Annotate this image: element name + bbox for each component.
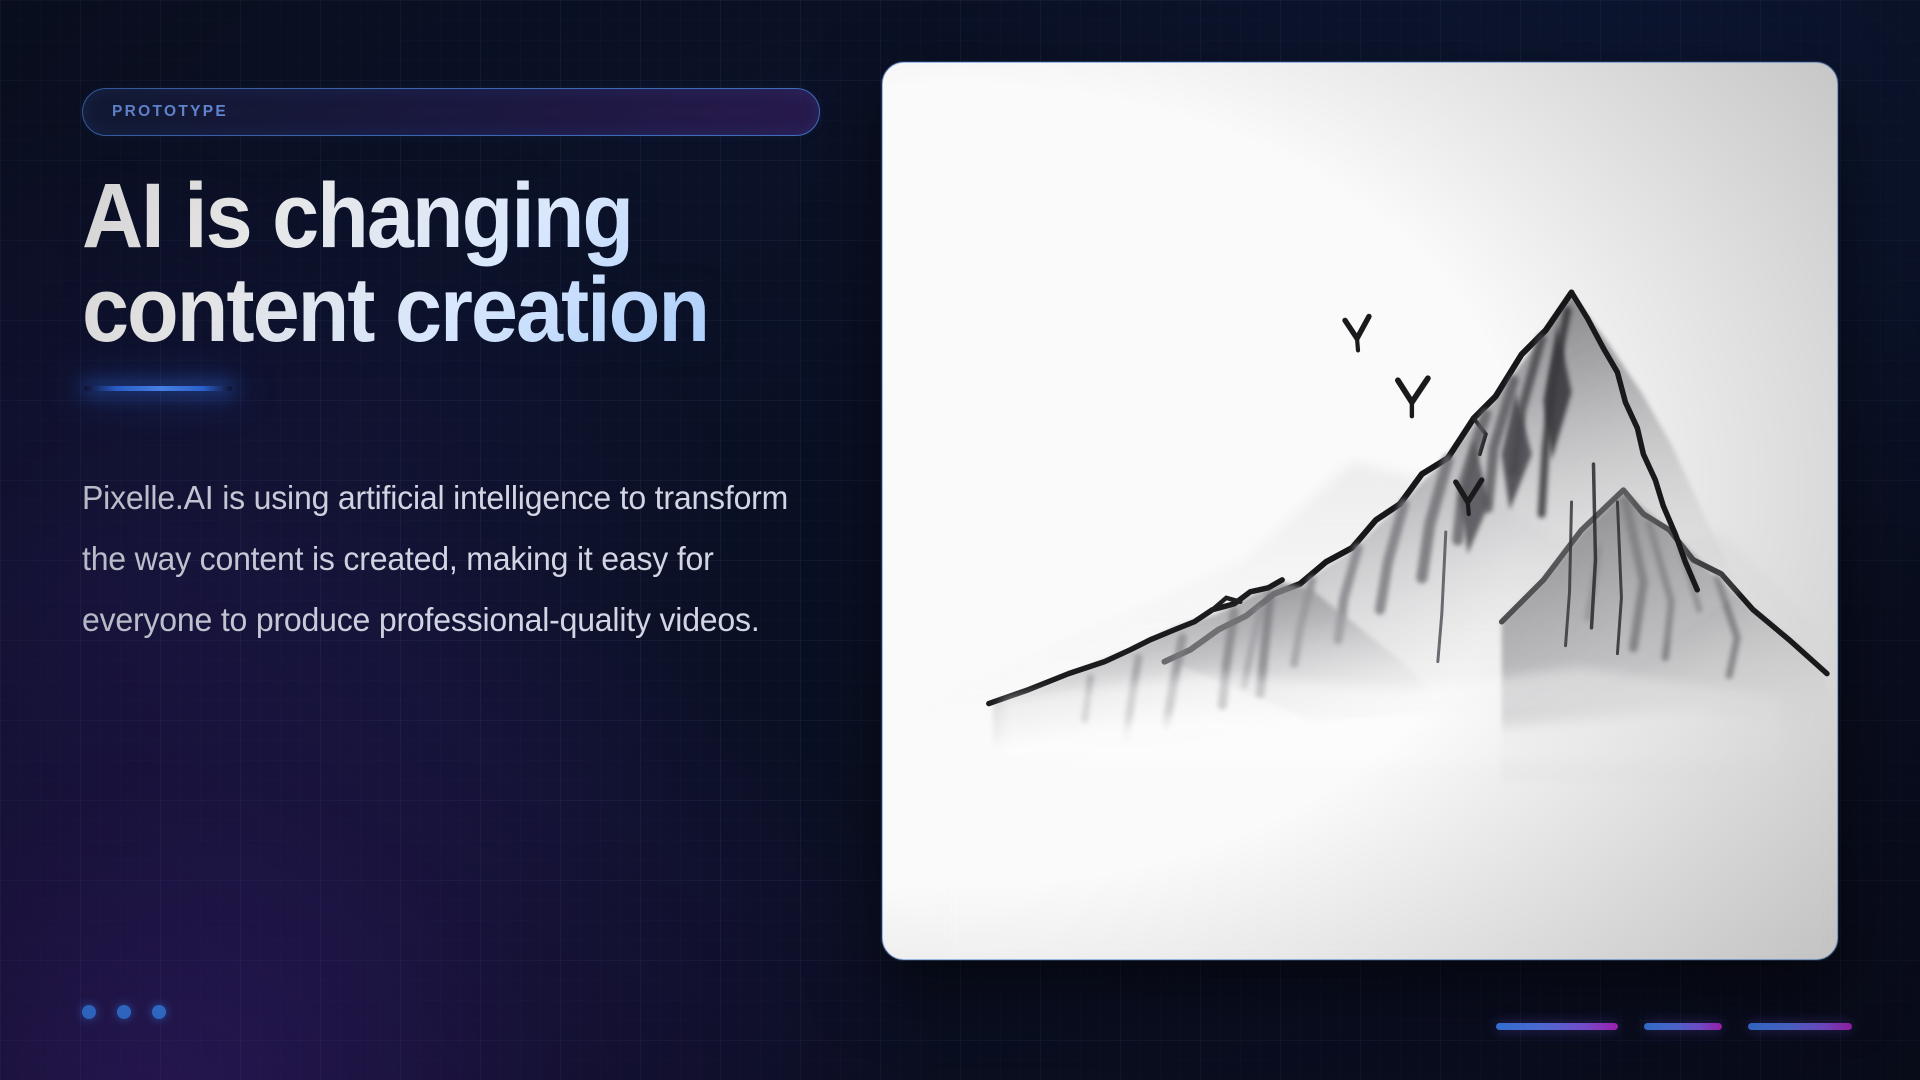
progress-bar-3[interactable] (1748, 1023, 1852, 1030)
headline-line-1: AI is changing (82, 170, 781, 264)
prototype-badge-label: PROTOTYPE (112, 103, 228, 121)
progress-bars[interactable] (1496, 1023, 1852, 1030)
left-content-column: PROTOTYPE AI is changing content creatio… (82, 88, 842, 651)
pagination-dot-2[interactable] (117, 1005, 131, 1019)
prototype-badge: PROTOTYPE (82, 88, 820, 136)
headline-accent-underline (84, 386, 232, 391)
headline-line-2: content creation (82, 264, 781, 358)
progress-bar-2[interactable] (1644, 1023, 1722, 1030)
progress-bar-1[interactable] (1496, 1023, 1618, 1030)
illustration-card[interactable] (882, 62, 1838, 960)
pagination-dot-3[interactable] (152, 1005, 166, 1019)
pagination-dots[interactable] (82, 1005, 166, 1019)
pagination-dot-1[interactable] (82, 1005, 96, 1019)
body-paragraph: Pixelle.AI is using artificial intellige… (82, 467, 805, 651)
mountain-ink-sketch-icon (883, 63, 1837, 959)
page-title: AI is changing content creation (82, 170, 781, 358)
slide-canvas: PROTOTYPE AI is changing content creatio… (0, 0, 1920, 1080)
